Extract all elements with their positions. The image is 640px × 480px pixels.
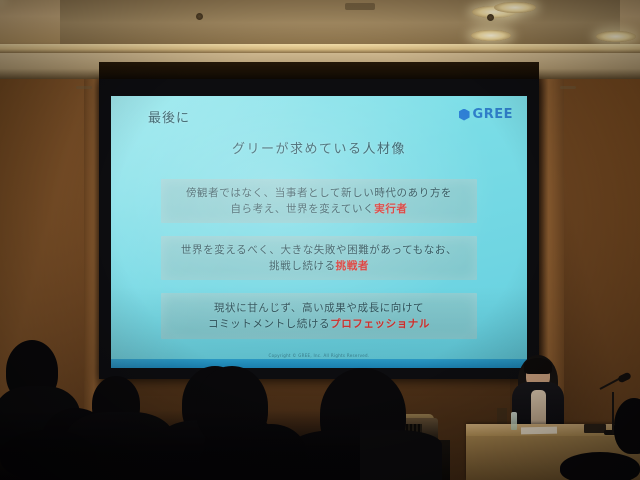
box-line-2: 挑戦し続ける挑戦者 bbox=[269, 258, 369, 274]
downlight-icon bbox=[471, 30, 511, 41]
box-line-1: 世界を変えるべく、大きな失敗や困難があってもなお、 bbox=[181, 242, 457, 258]
requirement-box: 傍観者ではなく、当事者として新しい時代のあり方を 自ら考え、世界を変えていく実行… bbox=[161, 179, 477, 223]
requirement-box: 世界を変えるべく、大きな失敗や困難があってもなお、 挑戦し続ける挑戦者 bbox=[161, 236, 477, 280]
foreground-shadow bbox=[0, 410, 360, 480]
ceiling-vent-icon bbox=[560, 86, 576, 89]
gree-logo: GREE bbox=[459, 107, 513, 122]
box-line-2: コミットメントし続けるプロフェッショナル bbox=[208, 316, 430, 332]
box-line-2-highlight: プロフェッショナル bbox=[330, 318, 430, 330]
slide-title: 最後に bbox=[148, 107, 190, 126]
downlight-icon bbox=[596, 31, 636, 42]
ceiling-speaker-icon bbox=[487, 14, 494, 21]
ceiling-speaker-icon bbox=[196, 13, 203, 20]
audience-head bbox=[560, 452, 640, 480]
box-line-1: 現状に甘んじず、高い成果や成長に向けて bbox=[214, 300, 424, 316]
box-line-2-plain: 挑戦し続ける bbox=[269, 260, 336, 272]
slide-subtitle: グリーが求めている人材像 bbox=[111, 138, 527, 157]
gree-hexagon-icon bbox=[459, 109, 470, 121]
box-line-2-highlight: 挑戦者 bbox=[336, 260, 369, 272]
cove-light-strip bbox=[0, 44, 640, 53]
conference-room-scene: 最後に GREE グリーが求めている人材像 傍観者ではなく、当事者として新しい時… bbox=[0, 0, 640, 480]
papers-on-table bbox=[521, 427, 557, 435]
projection-screen: 最後に GREE グリーが求めている人材像 傍観者ではなく、当事者として新しい時… bbox=[111, 96, 527, 368]
box-line-2-highlight: 実行者 bbox=[374, 203, 407, 215]
gree-logo-text: GREE bbox=[473, 107, 513, 122]
box-line-1: 傍観者ではなく、当事者として新しい時代のあり方を bbox=[186, 185, 452, 201]
slide-accent-band bbox=[111, 359, 527, 368]
water-bottle bbox=[511, 412, 517, 430]
presenter-hair-top bbox=[524, 358, 552, 374]
downlight-icon bbox=[494, 2, 536, 13]
ceiling-vent-icon bbox=[76, 86, 92, 89]
box-line-2-plain: コミットメントし続ける bbox=[208, 318, 330, 330]
presentation-slide: 最後に GREE グリーが求めている人材像 傍観者ではなく、当事者として新しい時… bbox=[111, 96, 527, 368]
table-device bbox=[584, 424, 606, 433]
box-line-2: 自ら考え、世界を変えていく実行者 bbox=[230, 201, 407, 217]
box-line-2-plain: 自ら考え、世界を変えていく bbox=[230, 203, 374, 215]
ceiling-vent-icon bbox=[345, 3, 375, 10]
requirement-box: 現状に甘んじず、高い成果や成長に向けて コミットメントし続けるプロフェッショナル bbox=[161, 293, 477, 339]
ceiling-recessed-panel bbox=[60, 0, 620, 49]
slide-copyright: Copyright © GREE, Inc. All Rights Reserv… bbox=[111, 353, 527, 358]
